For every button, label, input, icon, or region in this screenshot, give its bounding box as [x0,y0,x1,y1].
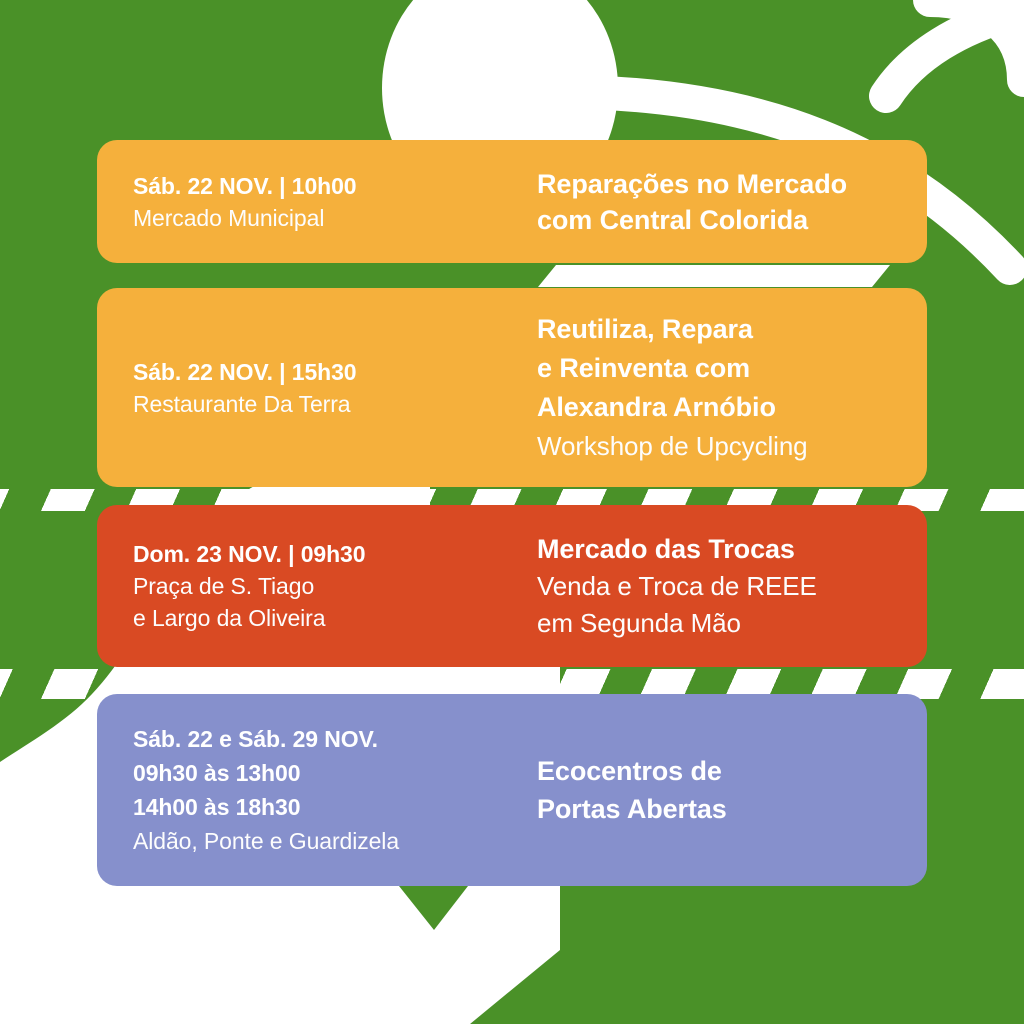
event-card-title: Reparações no Mercado com Central Colori… [533,166,927,238]
event-subtitle-line: Venda e Troca de REEE [537,568,927,605]
event-card-reutiliza-repara-reinventa[interactable]: Sáb. 22 NOV. | 15h30 Restaurante Da Terr… [97,288,927,487]
event-title-line: Ecocentros de [537,752,927,790]
event-card-title: Reutiliza, Repara e Reinventa com Alexan… [533,310,927,466]
event-title-line: Mercado das Trocas [537,531,927,568]
event-location: Restaurante Da Terra [133,388,533,420]
event-poster: Sáb. 22 NOV. | 10h00 Mercado Municipal R… [0,0,1024,1024]
event-card-schedule: Sáb. 22 NOV. | 10h00 Mercado Municipal [133,170,533,234]
event-datetime: Dom. 23 NOV. | 09h30 [133,538,533,570]
event-location: Praça de S. Tiago [133,570,533,602]
event-title-line: com Central Colorida [537,202,927,238]
event-card-schedule: Sáb. 22 NOV. | 15h30 Restaurante Da Terr… [133,356,533,420]
event-card-title: Ecocentros de Portas Abertas [533,752,927,828]
event-datetime: Sáb. 22 NOV. | 15h30 [133,356,533,388]
event-card-title: Mercado das Trocas Venda e Troca de REEE… [533,531,927,642]
event-datetime: 09h30 às 13h00 [133,756,533,790]
event-card-ecocentros-portas-abertas[interactable]: Sáb. 22 e Sáb. 29 NOV. 09h30 às 13h00 14… [97,694,927,886]
event-title-line: e Reinventa com [537,349,927,388]
event-datetime: Sáb. 22 NOV. | 10h00 [133,170,533,202]
event-location: Aldão, Ponte e Guardizela [133,824,533,858]
event-datetime: 14h00 às 18h30 [133,790,533,824]
event-title-line: Portas Abertas [537,790,927,828]
event-card-schedule: Sáb. 22 e Sáb. 29 NOV. 09h30 às 13h00 14… [133,722,533,858]
event-card-schedule: Dom. 23 NOV. | 09h30 Praça de S. Tiago e… [133,538,533,634]
event-location: e Largo da Oliveira [133,602,533,634]
event-datetime: Sáb. 22 e Sáb. 29 NOV. [133,722,533,756]
event-title-line: Alexandra Arnóbio [537,388,927,427]
event-card-reparacoes-no-mercado[interactable]: Sáb. 22 NOV. | 10h00 Mercado Municipal R… [97,140,927,263]
event-subtitle-line: Workshop de Upcycling [537,427,927,466]
event-title-line: Reparações no Mercado [537,166,927,202]
event-subtitle-line: em Segunda Mão [537,605,927,642]
divider-band-1 [0,265,1024,287]
event-location: Mercado Municipal [133,202,533,234]
event-title-line: Reutiliza, Repara [537,310,927,349]
event-card-mercado-das-trocas[interactable]: Dom. 23 NOV. | 09h30 Praça de S. Tiago e… [97,505,927,667]
